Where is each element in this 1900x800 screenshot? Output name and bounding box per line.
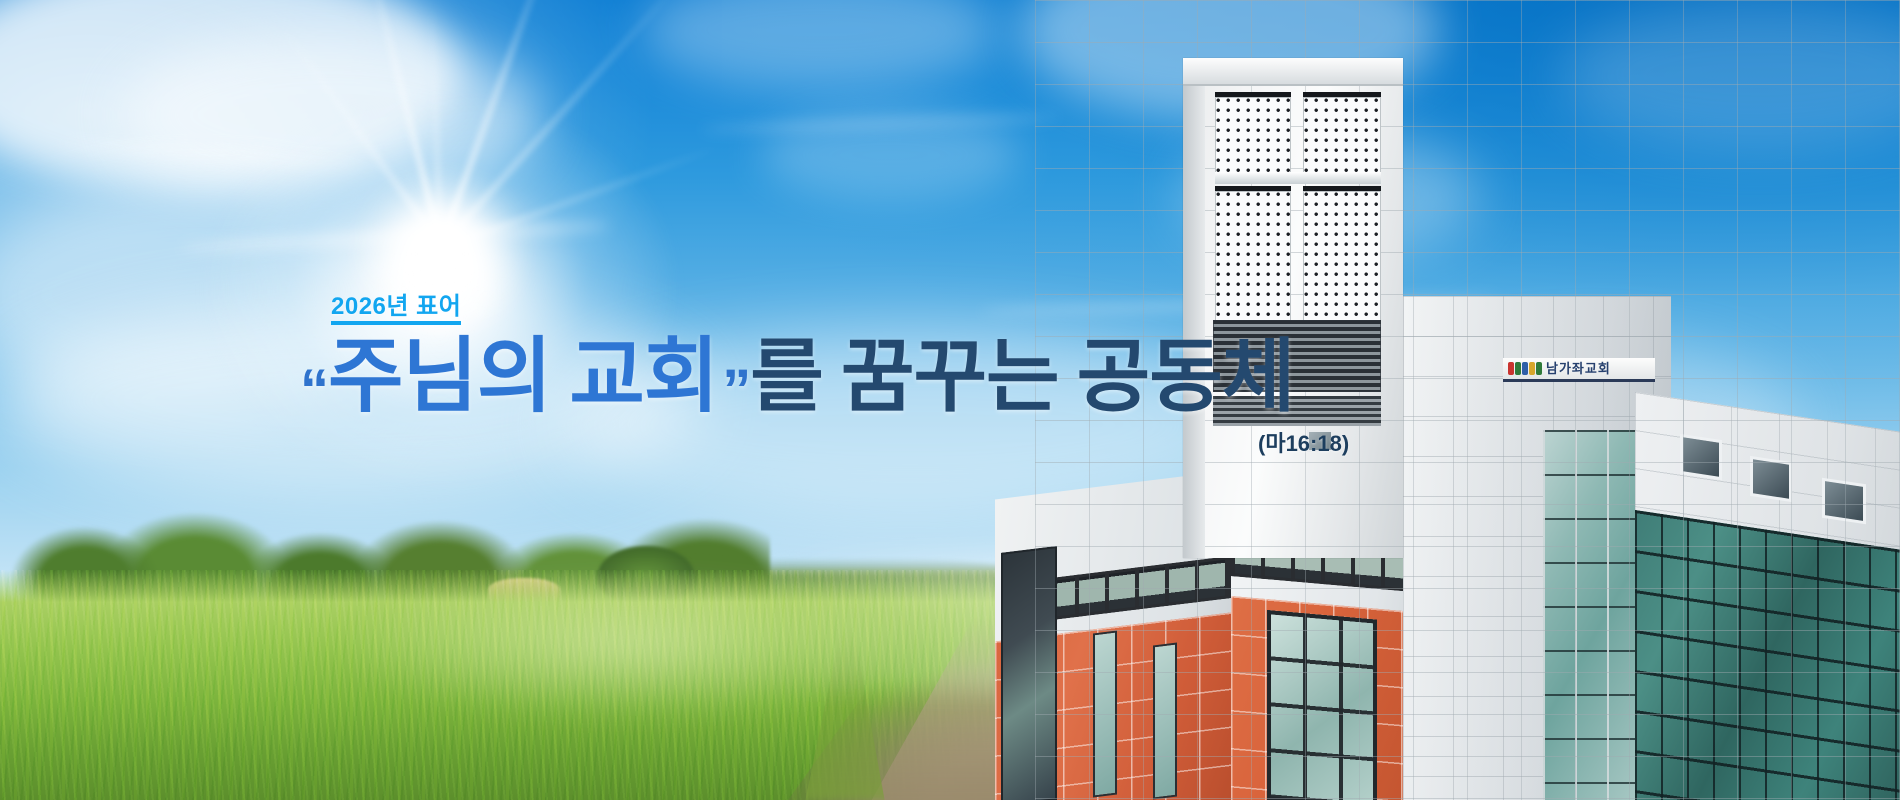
church-logo-icon [1508, 361, 1542, 376]
perforated-panel [1215, 186, 1291, 321]
tower-louver [1213, 320, 1381, 392]
tower-edge [1183, 58, 1205, 558]
tower-louver [1213, 396, 1381, 426]
perforated-panel [1303, 186, 1381, 321]
perforated-panel [1215, 92, 1291, 177]
tower-shelf [1215, 172, 1381, 184]
tower-panel-seams [1035, 0, 1900, 800]
church-name-text: 남가좌교회 [1546, 362, 1611, 375]
hero-banner: 남가좌교회 2026년 표어 “ 주님 의 교회 ” 를 꿈꾸는 공동체 (마1… [0, 0, 1900, 800]
perforated-panel [1303, 92, 1381, 177]
church-building: 남가좌교회 [1035, 0, 1900, 800]
church-name-sign: 남가좌교회 [1503, 358, 1655, 382]
tower-window [1307, 430, 1333, 452]
tower-cap [1183, 58, 1403, 86]
sun-icon [352, 166, 528, 342]
